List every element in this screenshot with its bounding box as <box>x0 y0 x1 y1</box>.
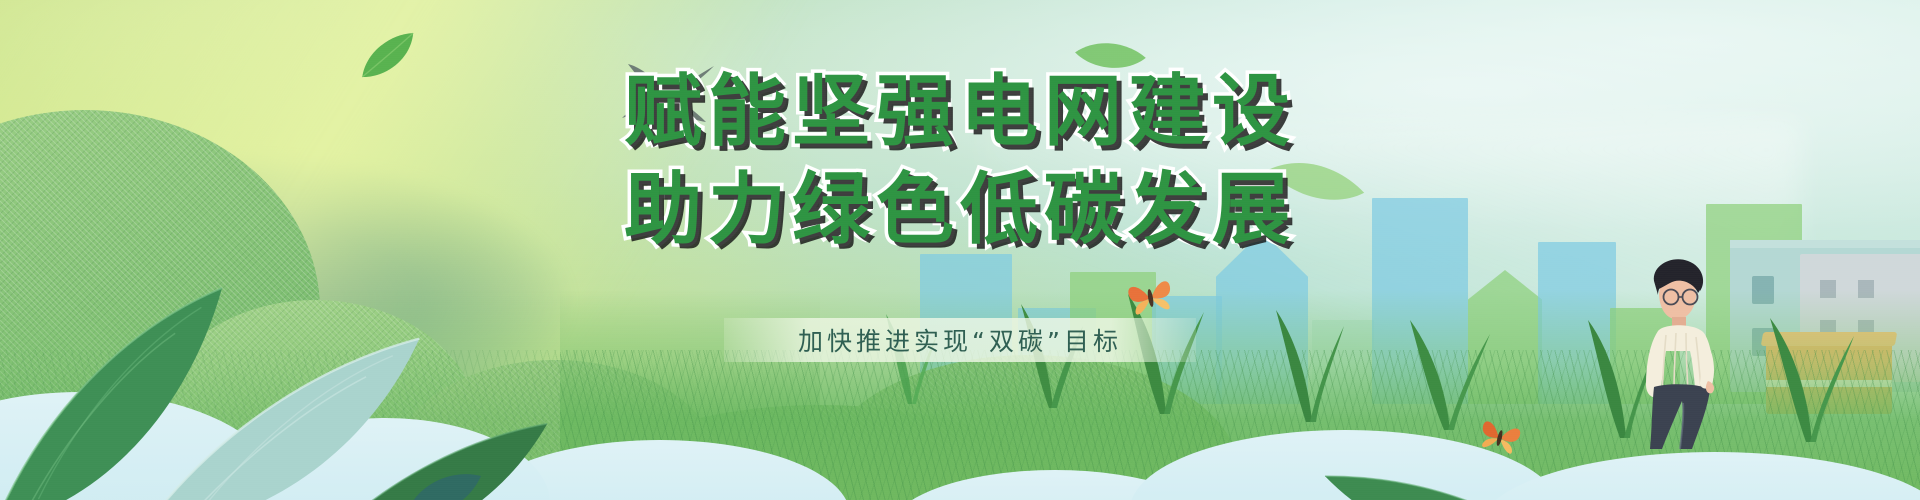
grass-blade <box>1760 310 1856 442</box>
small-leaf-stem <box>355 460 485 500</box>
subtitle-plate: 加快推进实现“双碳”目标 <box>724 318 1196 362</box>
grass-blade <box>1400 310 1492 430</box>
grass-blade <box>1270 304 1346 422</box>
green-energy-banner: 赋能坚强电网建设 助力绿色低碳发展 加快推进实现“双碳”目标 <box>0 0 1920 500</box>
subtitle-text: 加快推进实现“双碳”目标 <box>798 322 1122 358</box>
swallow-bird-icon <box>620 62 716 129</box>
person-pants <box>1650 384 1710 449</box>
office-building-roof <box>1730 240 1920 248</box>
walking-person-illustration <box>1628 255 1738 450</box>
